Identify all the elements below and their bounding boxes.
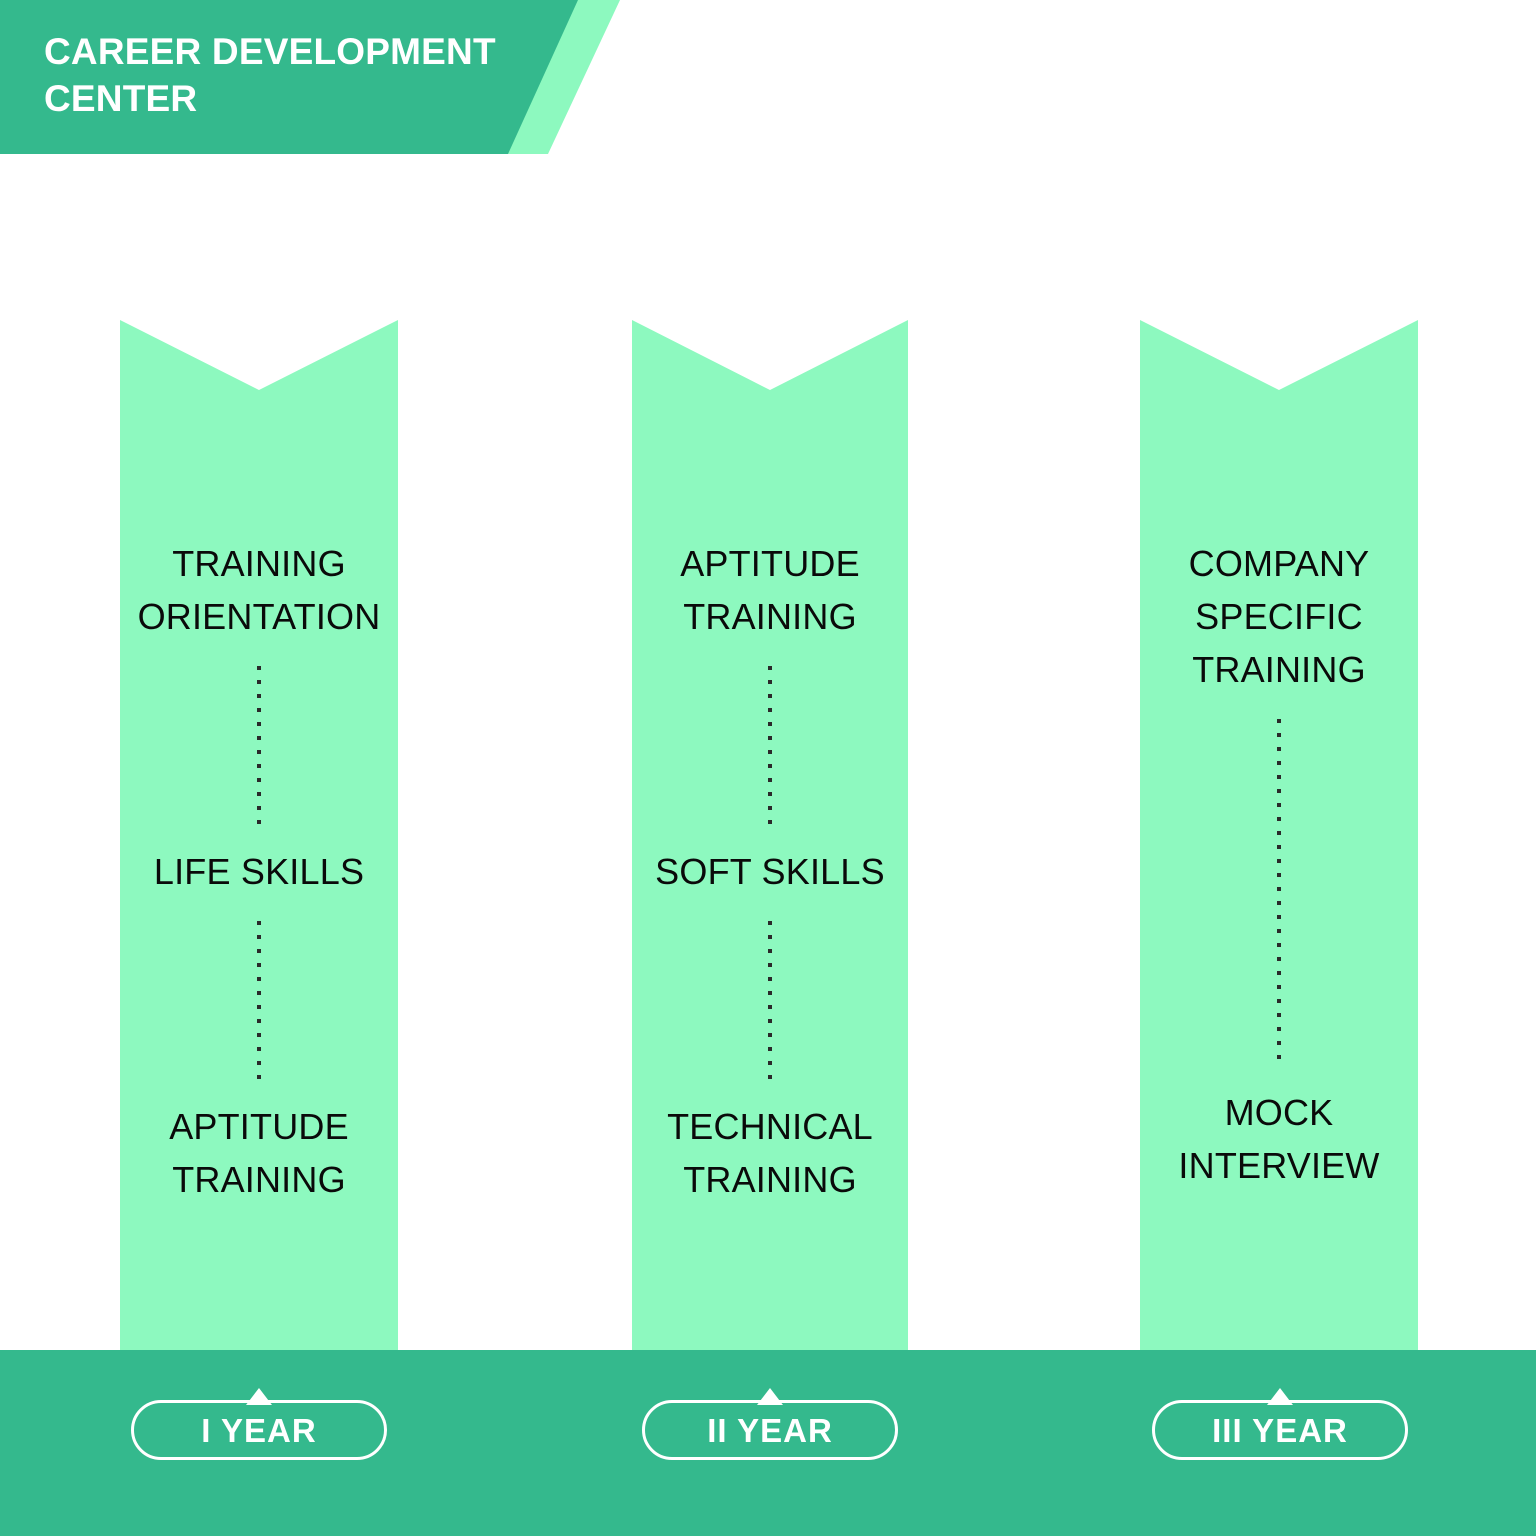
stage-label: SOFT SKILLS bbox=[655, 846, 885, 899]
year-marker-3[interactable]: III YEAR bbox=[1152, 1388, 1408, 1460]
dotted-connector-icon bbox=[768, 666, 772, 824]
stage-label: TRAINING ORIENTATION bbox=[138, 538, 381, 644]
dotted-connector-icon bbox=[768, 921, 772, 1079]
year-marker-2[interactable]: II YEAR bbox=[642, 1388, 898, 1460]
year-label: III YEAR bbox=[1212, 1414, 1348, 1447]
dotted-connector-icon bbox=[1277, 719, 1281, 1065]
column-content-2: APTITUDE TRAINING SOFT SKILLS TECHNICAL … bbox=[632, 320, 908, 1350]
year-pill-3[interactable]: III YEAR bbox=[1152, 1400, 1408, 1460]
year-column-1: TRAINING ORIENTATION LIFE SKILLS APTITUD… bbox=[120, 320, 398, 1350]
year-column-2: APTITUDE TRAINING SOFT SKILLS TECHNICAL … bbox=[632, 320, 908, 1350]
year-pill-2[interactable]: II YEAR bbox=[642, 1400, 898, 1460]
year-label: I YEAR bbox=[201, 1414, 316, 1447]
year-column-3: COMPANY SPECIFIC TRAINING MOCK INTERVIEW bbox=[1140, 320, 1418, 1350]
dotted-connector-icon bbox=[257, 921, 261, 1079]
stage-label: APTITUDE TRAINING bbox=[169, 1101, 349, 1207]
stage-label: TECHNICAL TRAINING bbox=[667, 1101, 873, 1207]
footer-bar: I YEAR II YEAR III YEAR bbox=[0, 1350, 1536, 1536]
year-pill-1[interactable]: I YEAR bbox=[131, 1400, 387, 1460]
stage-label: COMPANY SPECIFIC TRAINING bbox=[1189, 538, 1370, 697]
stage-label: MOCK INTERVIEW bbox=[1178, 1087, 1379, 1193]
roadmap-columns: TRAINING ORIENTATION LIFE SKILLS APTITUD… bbox=[0, 0, 1536, 1536]
stage-label: LIFE SKILLS bbox=[154, 846, 364, 899]
year-label: II YEAR bbox=[707, 1414, 833, 1447]
column-content-1: TRAINING ORIENTATION LIFE SKILLS APTITUD… bbox=[120, 320, 398, 1350]
year-marker-1[interactable]: I YEAR bbox=[131, 1388, 387, 1460]
column-content-3: COMPANY SPECIFIC TRAINING MOCK INTERVIEW bbox=[1140, 320, 1418, 1350]
dotted-connector-icon bbox=[257, 666, 261, 824]
stage-label: APTITUDE TRAINING bbox=[680, 538, 860, 644]
